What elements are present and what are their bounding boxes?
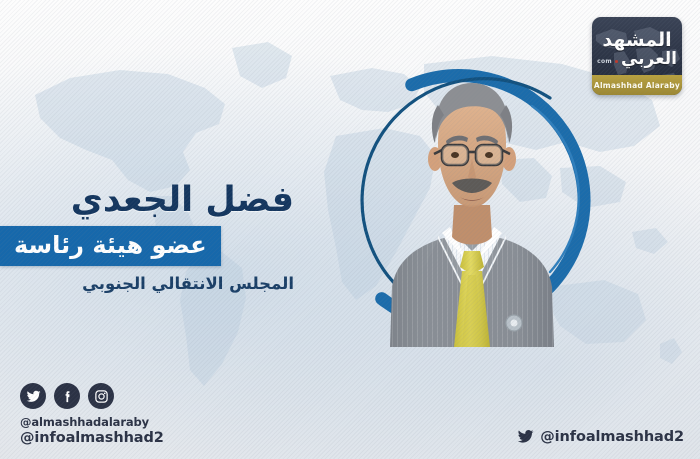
logo-caption-bar: Almashhad Alaraby bbox=[592, 75, 682, 95]
logo-caption-text: Almashhad Alaraby bbox=[594, 81, 680, 90]
brand-logo[interactable]: المشهد com العربي Almashhad Alaraby bbox=[592, 17, 682, 95]
social-block: @almashhadalaraby @infoalmashhad2 bbox=[20, 383, 164, 446]
logo-arabic-line-2: العربي bbox=[621, 51, 677, 68]
instagram-icon[interactable] bbox=[88, 383, 114, 409]
headline-block: فضل الجعدي عضو هيئة رئاسة المجلس الانتقا… bbox=[0, 182, 312, 294]
person-name: فضل الجعدي bbox=[0, 182, 312, 220]
logo-arabic-line-1: المشهد bbox=[602, 31, 671, 50]
social-handle-primary[interactable]: @almashhadalaraby bbox=[20, 415, 164, 429]
footer-twitter-handle: @infoalmashhad2 bbox=[540, 429, 684, 445]
logo-dot-icon bbox=[615, 60, 618, 63]
social-icon-row bbox=[20, 383, 164, 409]
social-handle-secondary[interactable]: @infoalmashhad2 bbox=[20, 430, 164, 446]
portrait-photo bbox=[372, 55, 572, 347]
news-graphic-card: فضل الجعدي عضو هيئة رئاسة المجلس الانتقا… bbox=[0, 0, 700, 459]
twitter-bird-icon bbox=[517, 428, 534, 445]
footer-twitter-block[interactable]: @infoalmashhad2 bbox=[517, 428, 684, 445]
facebook-icon[interactable] bbox=[54, 383, 80, 409]
twitter-icon[interactable] bbox=[20, 383, 46, 409]
role-badge: عضو هيئة رئاسة bbox=[0, 226, 221, 266]
organization-subtitle: المجلس الانتقالي الجنوبي bbox=[0, 274, 312, 294]
logo-com-label: com bbox=[597, 59, 612, 68]
